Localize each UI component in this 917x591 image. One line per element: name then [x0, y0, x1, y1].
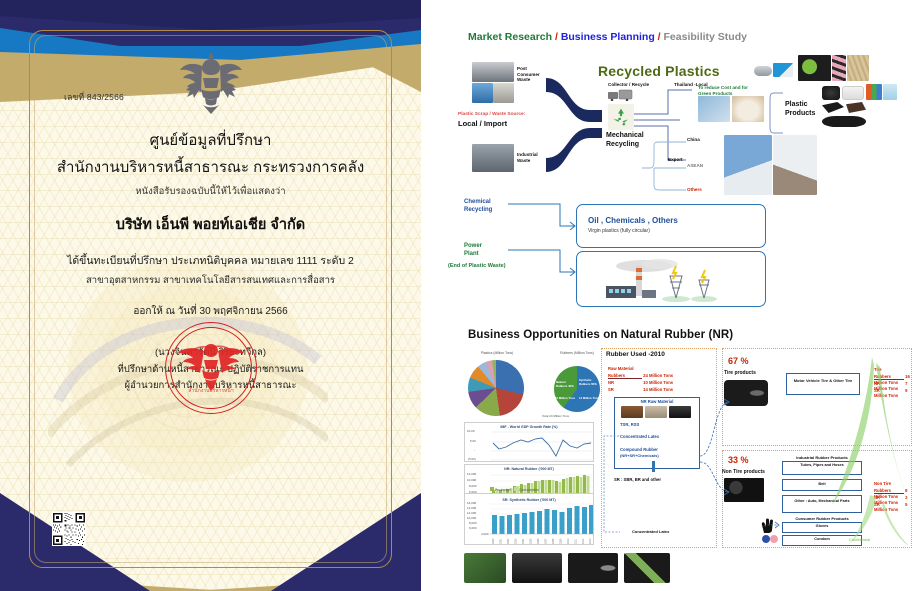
- raw-material-row-rubbers: Rubbers 24 Million Tons: [608, 373, 673, 379]
- gdp-ytick-1: 5.00: [470, 439, 476, 443]
- power-plant-illustration: [604, 256, 744, 304]
- concentrated-latex-note: Concentrated Latex: [632, 529, 669, 534]
- svg-text:2013: 2013: [589, 538, 592, 544]
- slides-panel: Market Research / Business Planning / Fe…: [446, 0, 917, 591]
- sr-ytick-6: 4,000: [481, 532, 489, 536]
- sr-ytick-0: 16,000: [467, 501, 476, 505]
- tires-photo: [568, 553, 618, 583]
- green-products-note: To reduce Cost and for Green Products: [698, 85, 773, 96]
- chemical-output-title: Oil , Chemicals , Others: [588, 216, 678, 225]
- screenshot-root: เลขที่ 843/2566 ศูนย์ข้อมูลที่ปรึกษา สำน…: [0, 0, 917, 591]
- signer-role-line2: ผู้อำนวยการสำนักงานบริหารหนี้สาธารณะ: [0, 378, 421, 393]
- raw-material-value-nr: 10 Million Tons: [643, 380, 673, 385]
- gdp-growth-chart: IMF - World GDP Growth Rate (%) 10.00 5.…: [464, 422, 594, 462]
- garuda-emblem-icon: [179, 48, 243, 118]
- nr-block-photo: [669, 406, 691, 418]
- breadcrumb: Market Research / Business Planning / Fe…: [468, 31, 747, 43]
- tire-percentage: 67 %: [728, 356, 749, 366]
- plastic-bales-photo: [724, 135, 772, 195]
- plastics-pie-title: Plastics (Million Tons): [462, 351, 532, 355]
- sr-ytick-5: 6,000: [469, 526, 477, 530]
- raw-material-label-sr: SR: [608, 387, 642, 392]
- rubber-tapping-photo: [464, 553, 506, 583]
- certificate-number: เลขที่ 843/2566: [64, 90, 124, 104]
- raw-material-heading: Raw Material: [608, 366, 634, 371]
- breadcrumb-separator-2: /: [658, 31, 661, 43]
- registration-line: ได้ขึ้นทะเบียนที่ปรึกษา ประเภทนิติบุคคล …: [0, 252, 421, 269]
- rubber-used-title: Rubber Used -2010: [606, 351, 665, 358]
- company-name: บริษัท เอ็นพี พอยท์เอเชีย จำกัด: [0, 213, 421, 236]
- qr-code: [52, 512, 86, 546]
- svg-text:2011: 2011: [575, 538, 578, 544]
- sr-ytick-1: 14,000: [467, 506, 476, 510]
- scrap-tires-photo: [624, 553, 670, 583]
- sr-ytick-4: 8,000: [469, 521, 477, 525]
- svg-text:2001: 2001: [500, 538, 503, 544]
- confidential-watermark: Confidential: [849, 537, 870, 542]
- rubbers-pie-label-natural: Natural Rubbers 40%: [556, 380, 576, 388]
- certificate-subtitle: หนังสือรับรองฉบับนี้ให้ไว้เพื่อแสดงว่า: [0, 184, 421, 199]
- post-consumer-waste-photo-1: [472, 62, 514, 82]
- waste-source-bracket-arrows: [544, 70, 604, 180]
- svg-text:2004: 2004: [522, 538, 525, 544]
- raw-material-label-nr: NR: [608, 380, 642, 385]
- svg-text:2009: 2009: [560, 538, 563, 544]
- chemical-output-box: [576, 204, 766, 248]
- svg-text:2010: 2010: [567, 538, 570, 544]
- condom-icon: [761, 534, 779, 544]
- svg-text:2006: 2006: [537, 538, 540, 544]
- latex-loop-connector: [596, 432, 620, 536]
- plastic-sheet-photo: [773, 63, 793, 77]
- rubbers-pie-caption: Total 24 Million Tons: [542, 414, 569, 418]
- signer-role-line1: ที่ปรึกษาด้านหนี้สาธารณะ ปฏิบัติราชการแท…: [0, 362, 421, 377]
- nr-raw-material-title: NR Raw Material: [614, 399, 700, 404]
- rubbers-pie-label-synthetic: Synthetic Rubbers 60%: [579, 378, 599, 386]
- plastic-film-photo: [754, 66, 772, 76]
- nr-sheet-photo-1: [621, 406, 643, 418]
- plastics-pie-chart: [468, 360, 524, 416]
- svg-text:2005: 2005: [530, 538, 533, 544]
- signer-name: (นางจินดารัตน์ วิริยะทวีกุล): [0, 345, 421, 360]
- legend-swatch-consumption: [514, 487, 518, 491]
- sr-note: SR : SBR, BR and other: [614, 477, 661, 482]
- green-leaf-motif: [826, 355, 916, 545]
- bumper-photo: [822, 116, 866, 127]
- nr-form-compound-rubber: Compound Rubber: [620, 447, 658, 452]
- svg-text:2008: 2008: [552, 538, 555, 544]
- rubber-flow-arrows: [698, 390, 732, 510]
- natural-rubber-title: Business Opportunities on Natural Rubber…: [468, 329, 733, 341]
- power-plant-arrow: [508, 246, 580, 276]
- issuing-center-name: ศูนย์ข้อมูลที่ปรึกษา: [0, 128, 421, 152]
- nr-form-concentrated-latex: Concentrated Latex: [620, 434, 659, 439]
- industrial-waste-photo: [472, 144, 514, 172]
- export-branch-lines: [642, 140, 688, 196]
- lomax-bag-photo: [798, 55, 831, 81]
- gdp-ytick-3: (5.00): [468, 457, 476, 461]
- auto-parts-photo-2: [846, 102, 866, 113]
- post-consumer-waste-photo-2: [472, 83, 493, 103]
- certificate-document: เลขที่ 843/2566 ศูนย์ข้อมูลที่ปรึกษา สำน…: [0, 0, 421, 591]
- beige-texture-photo: [847, 55, 869, 81]
- nr-sheet-photo-2: [645, 406, 667, 418]
- synthetic-rubber-chart: SR: Synthetic Rubber ('000 MT): [464, 493, 594, 545]
- post-consumer-waste-photo-3: [493, 83, 514, 103]
- svg-text:2000: 2000: [492, 538, 495, 544]
- auto-parts-photo-1: [822, 102, 844, 113]
- export-destination-china: China: [687, 137, 700, 143]
- recycled-pellets-photo: [732, 96, 764, 122]
- issue-date: ออกให้ ณ วันที่ 30 พฤศจิกายน 2566: [0, 304, 421, 319]
- chemical-output-subtitle: Virgin plastics (fully circular): [588, 228, 650, 234]
- waste-source-label: Local / Import: [458, 119, 507, 128]
- nr-ytick-0: 12,000: [467, 472, 476, 476]
- truck-bin-icon: [608, 89, 634, 101]
- raw-material-value-sr: 14 Million Tons: [643, 387, 673, 392]
- svg-text:2012: 2012: [582, 538, 585, 544]
- legend-swatch-production: [490, 487, 494, 491]
- plastic-products-label: Plastic Products: [785, 100, 815, 118]
- sr-ytick-3: 10,000: [467, 516, 476, 520]
- breadcrumb-separator-1: /: [555, 31, 558, 43]
- breadcrumb-item-business-planning[interactable]: Business Planning: [561, 31, 655, 43]
- rubbers-pie-note-natural: 10 Million Tons: [555, 396, 575, 400]
- issuing-office-name: สำนักงานบริหารหนี้สาธารณะ กระทรวงการคลัง: [0, 155, 421, 179]
- recycled-flakes-photo: [698, 96, 730, 122]
- sr-ytick-2: 12,000: [467, 511, 476, 515]
- svg-text:2002: 2002: [507, 538, 510, 544]
- detergent-bottle-photo: [883, 84, 897, 100]
- svg-text:2003: 2003: [515, 538, 518, 544]
- branch-line: สาขาอุตสาหกรรม สาขาเทคโนโลยีสารสนเทศและก…: [0, 273, 421, 288]
- waste-source-label-red: Plastic Scrap / Waste Source:: [458, 112, 525, 117]
- export-destination-asean: ASEAN: [687, 163, 703, 169]
- svg-text:2007: 2007: [545, 538, 548, 544]
- gdp-ytick-0: 10.00: [467, 429, 475, 433]
- food-tray-photo: [842, 86, 864, 100]
- power-plant-label: Power Plant: [464, 242, 482, 258]
- nr-form-compound-rubber-detail: (NR+SR+Chemicals): [620, 453, 659, 458]
- plastic-products-bracket: [766, 92, 784, 134]
- post-consumer-waste-label: Post Consumer Waste: [517, 66, 547, 83]
- rubbers-pie-chart: [554, 366, 600, 412]
- nr-ytick-1: 10,000: [467, 478, 476, 482]
- end-of-plastic-waste-note: (End of Plastic Waste): [448, 263, 506, 270]
- gdp-ytick-2: -: [474, 448, 475, 452]
- chemical-recycling-arrow: [508, 202, 580, 230]
- nr-ytick-2: 8,000: [469, 484, 477, 488]
- mixed-plastic-photo: [773, 135, 817, 195]
- pink-strip-photo: [832, 55, 846, 81]
- rubbers-pie-note-synthetic: 14 Million Tons: [579, 396, 599, 400]
- certificate-body: ศูนย์ข้อมูลที่ปรึกษา สำนักงานบริหารหนี้ส…: [0, 128, 421, 393]
- raw-material-row-sr: SR 14 Million Tons: [608, 387, 673, 392]
- raw-material-value-rubbers: 24 Million Tons: [643, 373, 673, 378]
- breadcrumb-item-feasibility-study[interactable]: Feasibility Study: [664, 31, 747, 43]
- recycling-symbol-icon: [608, 104, 634, 130]
- raw-material-row-nr: NR 10 Million Tons: [608, 380, 673, 385]
- legend-label-production: Production: [495, 488, 511, 492]
- industrial-waste-label: Industrial Waste: [517, 152, 547, 163]
- bottles-photo: [866, 84, 882, 100]
- chemical-recycling-label: Chemical Recycling: [464, 199, 492, 215]
- tire-products-label: Tire products: [724, 370, 756, 376]
- legend-label-consumption: Consumption: [519, 488, 539, 492]
- natural-rubber-chart-legend: Production Consumption: [490, 487, 539, 492]
- export-destination-others: Others: [687, 187, 702, 193]
- nontire-to-products-arrow: [764, 520, 782, 530]
- black-bag-photo: [822, 86, 840, 100]
- raw-material-label-rubbers: Rubbers: [608, 373, 642, 379]
- breadcrumb-item-market-research[interactable]: Market Research: [468, 31, 552, 43]
- compound-rubber-connector: [652, 461, 655, 472]
- nr-form-tsr-rss: TSR, RSS: [620, 422, 639, 427]
- rubber-blocks-photo: [512, 553, 562, 583]
